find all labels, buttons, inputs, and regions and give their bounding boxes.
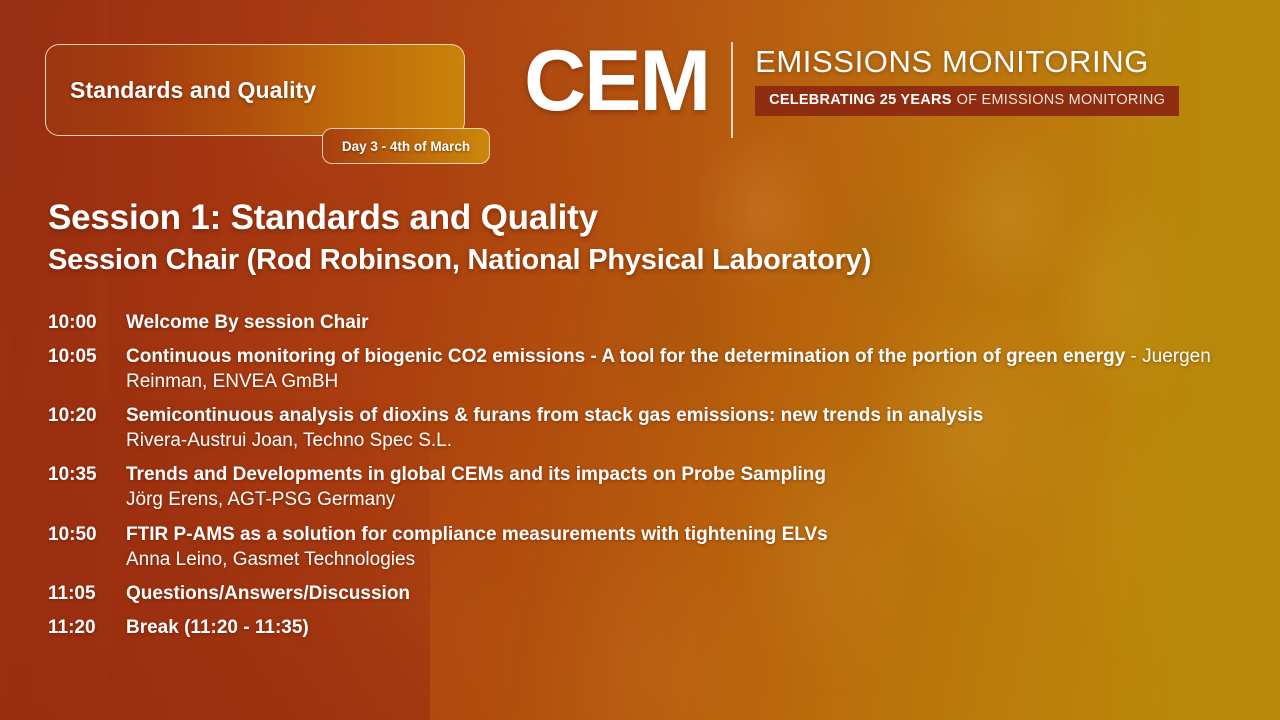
anniversary-badge-strong: CELEBRATING 25 YEARS [769, 93, 952, 108]
anniversary-badge-rest: OF EMISSIONS MONITORING [957, 93, 1166, 108]
slide-root: Standards and Quality Day 3 - 4th of Mar… [0, 0, 1280, 720]
session-title: Session 1: Standards and Quality [48, 198, 598, 238]
agenda-time: 11:05 [48, 581, 126, 606]
agenda-speaker: Jörg Erens, AGT-PSG Germany [126, 487, 1248, 512]
agenda-time: 10:35 [48, 462, 126, 487]
session-chair: Session Chair (Rod Robinson, National Ph… [48, 244, 871, 277]
agenda-title: Break (11:20 - 11:35) [126, 617, 309, 638]
agenda-row: 10:35 Trends and Developments in global … [48, 462, 1248, 512]
cem-logo-tagline: EMISSIONS MONITORING [755, 46, 1179, 77]
agenda-entry: Welcome By session Chair [126, 310, 1248, 335]
agenda-time: 10:50 [48, 522, 126, 547]
agenda-entry: Break (11:20 - 11:35) [126, 615, 1248, 640]
agenda-time: 10:05 [48, 344, 126, 369]
agenda-row: 10:50 FTIR P-AMS as a solution for compl… [48, 522, 1248, 572]
agenda-row: 10:05 Continuous monitoring of biogenic … [48, 344, 1248, 394]
agenda-title: FTIR P-AMS as a solution for compliance … [126, 524, 828, 545]
cem-logo-mark: CEM [524, 38, 709, 123]
agenda-row: 11:20 Break (11:20 - 11:35) [48, 615, 1248, 640]
agenda-entry: Questions/Answers/Discussion [126, 581, 1248, 606]
agenda-entry: Trends and Developments in global CEMs a… [126, 462, 1248, 512]
cem-logo: CEM EMISSIONS MONITORING CELEBRATING 25 … [524, 38, 1179, 138]
logo-divider [731, 42, 733, 138]
agenda-title: Welcome By session Chair [126, 312, 369, 333]
day-tab: Day 3 - 4th of March [322, 128, 490, 164]
agenda-entry: FTIR P-AMS as a solution for compliance … [126, 522, 1248, 572]
agenda-row: 11:05 Questions/Answers/Discussion [48, 581, 1248, 606]
anniversary-badge: CELEBRATING 25 YEARS OF EMISSIONS MONITO… [755, 86, 1179, 116]
session-topic-pill: Standards and Quality [45, 44, 465, 136]
agenda-time: 10:00 [48, 310, 126, 335]
agenda-list: 10:00 Welcome By session Chair 10:05 Con… [48, 310, 1248, 649]
day-tab-label: Day 3 - 4th of March [342, 139, 470, 154]
agenda-row: 10:20 Semicontinuous analysis of dioxins… [48, 403, 1248, 453]
agenda-title: Semicontinuous analysis of dioxins & fur… [126, 405, 983, 426]
agenda-title: Trends and Developments in global CEMs a… [126, 464, 826, 485]
agenda-title: Questions/Answers/Discussion [126, 583, 410, 604]
agenda-entry: Continuous monitoring of biogenic CO2 em… [126, 344, 1248, 394]
cem-logo-text-group: EMISSIONS MONITORING CELEBRATING 25 YEAR… [755, 38, 1179, 116]
agenda-time: 11:20 [48, 615, 126, 640]
session-topic-label: Standards and Quality [70, 77, 316, 104]
agenda-entry: Semicontinuous analysis of dioxins & fur… [126, 403, 1248, 453]
agenda-speaker: Anna Leino, Gasmet Technologies [126, 547, 1248, 572]
agenda-title: Continuous monitoring of biogenic CO2 em… [126, 346, 1125, 367]
agenda-row: 10:00 Welcome By session Chair [48, 310, 1248, 335]
agenda-time: 10:20 [48, 403, 126, 428]
agenda-speaker: Rivera-Austrui Joan, Techno Spec S.L. [126, 428, 1248, 453]
